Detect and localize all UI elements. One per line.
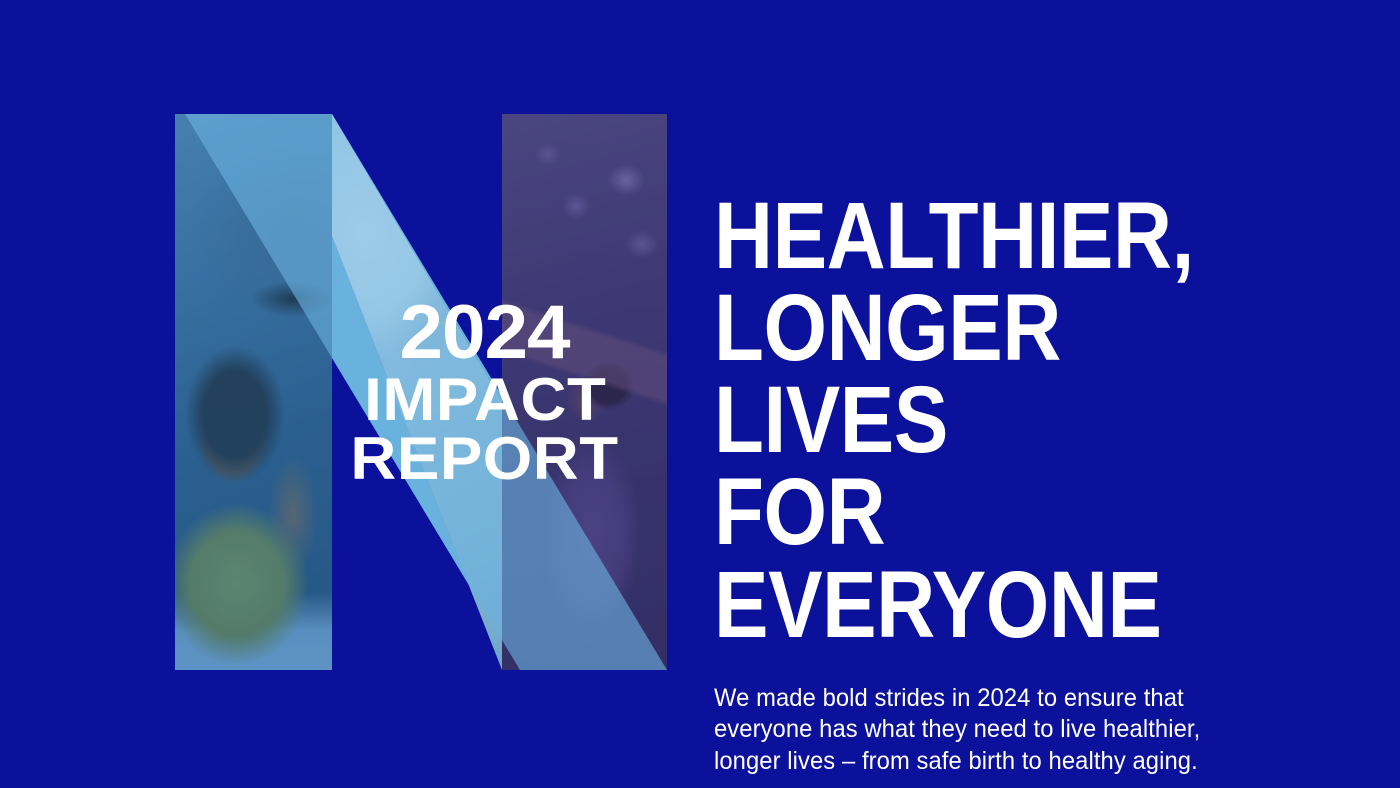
hero-subcopy: We made bold strides in 2024 to ensure t… bbox=[714, 683, 1284, 778]
lockup-year: 2024 bbox=[400, 298, 570, 368]
hero-copy-block: HEALTHIER, LONGER LIVES FOR EVERYONE We … bbox=[714, 190, 1314, 778]
lockup-report: REPORT bbox=[351, 431, 619, 486]
impact-report-cover-slide: 2024 IMPACT REPORT HEALTHIER, LONGER LIV… bbox=[0, 0, 1400, 788]
report-lockup: 2024 IMPACT REPORT bbox=[175, 114, 667, 670]
page-title: HEALTHIER, LONGER LIVES FOR EVERYONE bbox=[714, 190, 1230, 651]
photo-collage: 2024 IMPACT REPORT bbox=[175, 114, 667, 670]
lockup-impact: IMPACT bbox=[364, 372, 606, 427]
